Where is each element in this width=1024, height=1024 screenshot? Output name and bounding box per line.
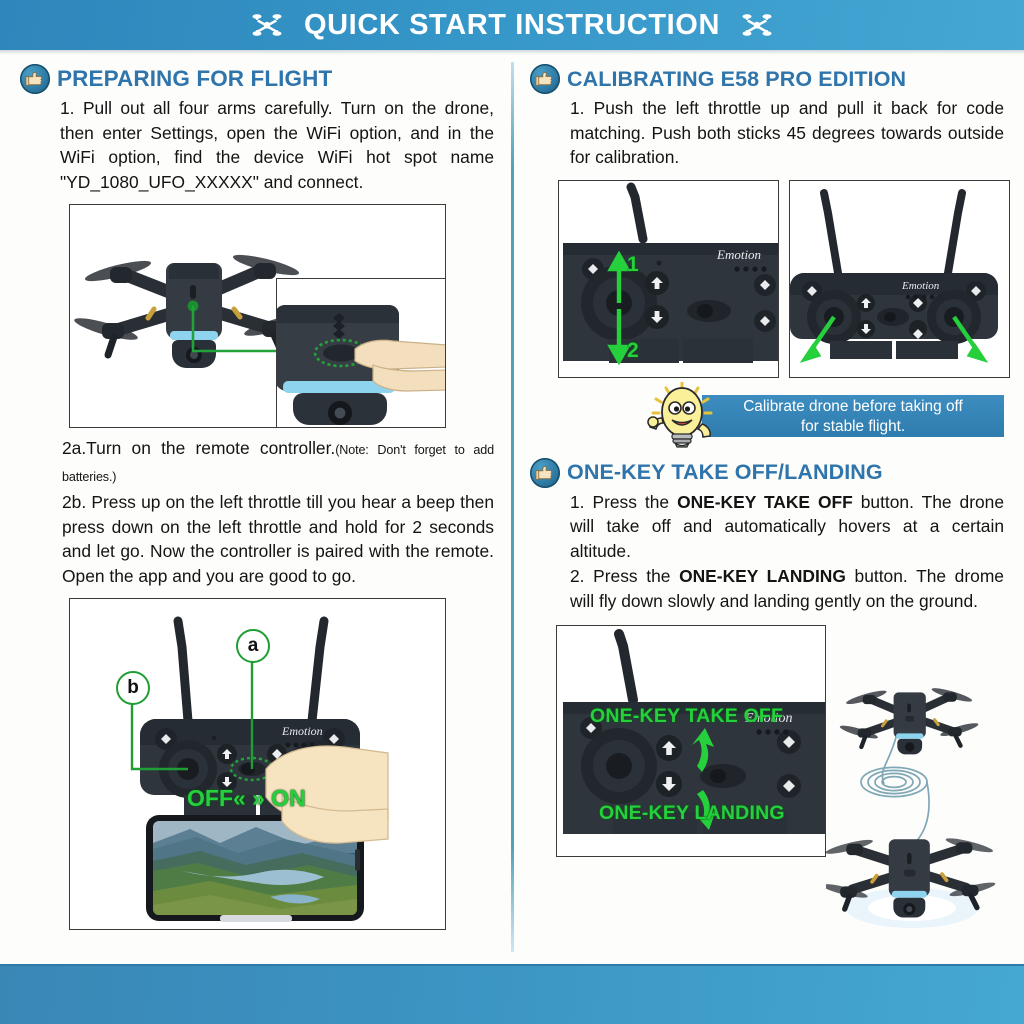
- instruction-sheet: QUICK START INSTRUCTION: [0, 0, 1024, 1024]
- one-key-paragraph-1: 1. Press the ONE-KEY TAKE OFF button. Th…: [570, 490, 1004, 564]
- calibration-tip: Calibrate drone before taking off for st…: [644, 388, 1004, 444]
- column-divider: [511, 62, 514, 952]
- callout-b-label: b: [127, 677, 139, 699]
- left-column: PREPARING FOR FLIGHT 1. Pull out all fou…: [14, 58, 500, 930]
- arrow-label-2: 2: [627, 339, 639, 363]
- svg-text:Emotion: Emotion: [901, 280, 940, 292]
- drone-takeoff-landing-art: [826, 672, 1016, 930]
- on-label: » ON: [252, 785, 306, 812]
- step-2a-text: 2a.Turn on the remote controller.: [62, 438, 335, 458]
- section-title: PREPARING FOR FLIGHT: [57, 66, 332, 92]
- preparing-step-2b: 2b. Press up on the left throttle till y…: [62, 490, 494, 588]
- power-button-inset: [276, 278, 446, 428]
- throttle-updown-figure: Emotion 1 2: [558, 180, 779, 378]
- page-title: QUICK START INSTRUCTION: [304, 9, 720, 42]
- pointing-hand-icon: [530, 458, 560, 488]
- section-heading-preparing-for-flight: PREPARING FOR FLIGHT: [20, 64, 500, 94]
- lightbulb-mascot-icon: [644, 382, 722, 448]
- calibrating-paragraph-1: 1. Push the left throttle up and pull it…: [570, 96, 1004, 170]
- throttle-updown-illustration: Emotion: [559, 181, 779, 377]
- power-button-closeup: [277, 279, 445, 427]
- page-header: QUICK START INSTRUCTION: [0, 0, 1024, 50]
- header-shadow: [0, 50, 1024, 55]
- callout-marker-b: b: [116, 671, 150, 705]
- off-label: OFF«: [187, 785, 246, 812]
- page-footer: [0, 966, 1024, 1024]
- preparing-paragraph-1: 1. Pull out all four arms carefully. Tur…: [60, 96, 494, 194]
- both-sticks-45-figure: Emotion: [789, 180, 1010, 378]
- drone-icon: [252, 12, 282, 38]
- calibration-figures: Emotion 1 2: [558, 180, 1010, 378]
- both-sticks-45-illustration: Emotion: [790, 181, 1010, 377]
- one-key-take-off-term: ONE-KEY TAKE OFF: [677, 492, 853, 512]
- one-key-take-off-label: ONE-KEY TAKE OFF: [590, 705, 783, 728]
- remote-phone-figure: Emotion: [69, 598, 446, 930]
- preparing-step-2a: 2a.Turn on the remote controller.(Note: …: [62, 436, 494, 489]
- drone-power-button-figure: [69, 204, 446, 428]
- one-key-landing-term: ONE-KEY LANDING: [679, 566, 846, 586]
- tip-line-1: Calibrate drone before taking off: [702, 397, 1004, 417]
- section-title: CALIBRATING E58 PRO EDITION: [567, 67, 906, 92]
- one-key-p2-pre: 2. Press the: [570, 566, 679, 586]
- pointing-hand-icon: [530, 64, 560, 94]
- tip-banner: Calibrate drone before taking off for st…: [702, 395, 1004, 437]
- callout-a-label: a: [248, 635, 259, 657]
- one-key-p1-pre: 1. Press the: [570, 492, 677, 512]
- callout-marker-a: a: [236, 629, 270, 663]
- drone-icon: [742, 12, 772, 38]
- pointing-hand-icon: [20, 64, 50, 94]
- one-key-buttons-figure: Emotion ONE-KEY TAKE OFF ONE-KEY LANDING: [556, 625, 826, 857]
- section-heading-one-key: ONE-KEY TAKE OFF/LANDING: [530, 458, 1010, 488]
- svg-text:Emotion: Emotion: [716, 247, 761, 262]
- one-key-paragraph-2: 2. Press the ONE-KEY LANDING button. The…: [570, 564, 1004, 613]
- section-heading-calibrating: CALIBRATING E58 PRO EDITION: [530, 64, 1010, 94]
- svg-text:Emotion: Emotion: [281, 724, 323, 738]
- tip-line-2: for stable flight.: [702, 417, 1004, 437]
- section-title: ONE-KEY TAKE OFF/LANDING: [567, 460, 883, 485]
- arrow-label-1: 1: [627, 253, 639, 277]
- one-key-landing-label: ONE-KEY LANDING: [599, 802, 785, 825]
